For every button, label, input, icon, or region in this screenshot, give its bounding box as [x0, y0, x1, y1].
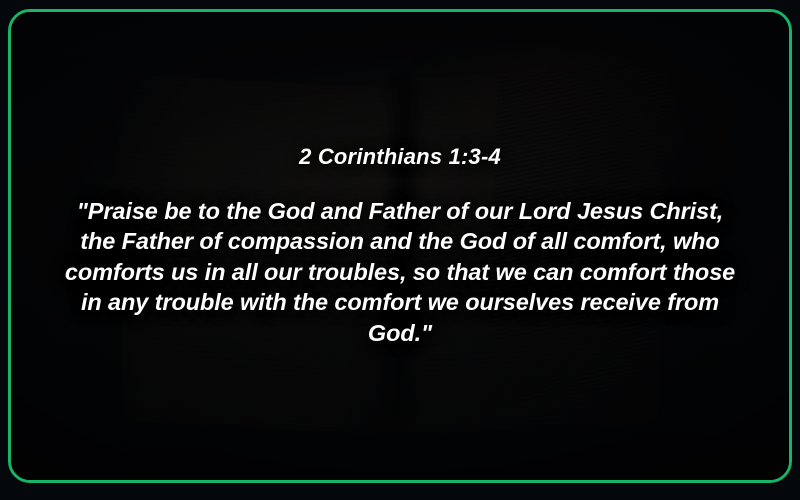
verse-card-frame: 2 Corinthians 1:3-4 "Praise be to the Go… — [8, 9, 792, 483]
verse-content: 2 Corinthians 1:3-4 "Praise be to the Go… — [11, 12, 789, 480]
verse-card-canvas: 2 Corinthians 1:3-4 "Praise be to the Go… — [0, 0, 800, 500]
verse-text: "Praise be to the God and Father of our … — [64, 196, 736, 349]
verse-reference: 2 Corinthians 1:3-4 — [299, 144, 501, 170]
